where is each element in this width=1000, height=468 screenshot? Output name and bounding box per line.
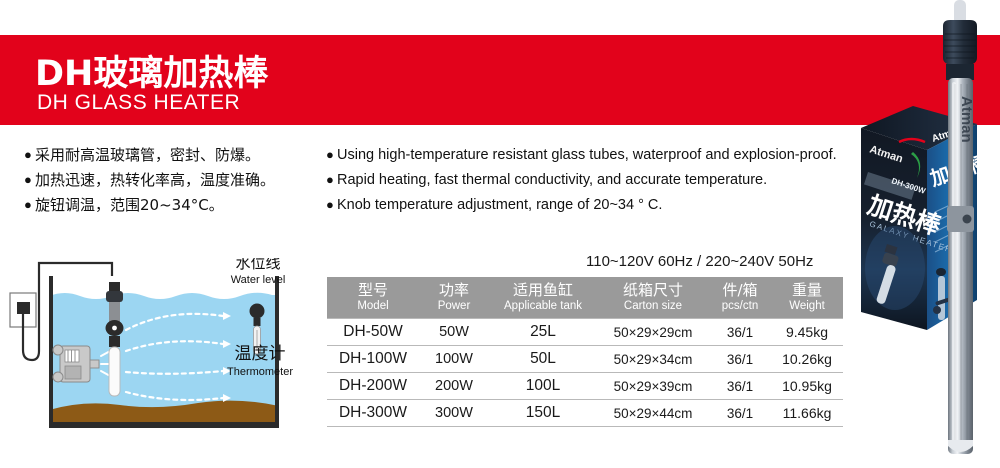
cell-weight: 9.45kg (771, 319, 843, 346)
specification-table: 型号 Model 功率 Power 适用鱼缸 Applicable tank 纸… (327, 277, 843, 427)
outlet-plug-icon (17, 302, 30, 314)
col-header-carton: 纸箱尺寸 Carton size (597, 277, 709, 319)
tank-base (49, 422, 279, 428)
list-item: ● Knob temperature adjustment, range of … (326, 194, 846, 216)
product-photo: Atman DH-300W 加热棒 GALAXY HEATER Atman 加热… (855, 0, 1000, 468)
rod-highlight (952, 82, 956, 450)
cell-tank: 150L (489, 400, 597, 427)
cell-model: DH-50W (327, 319, 419, 346)
header-banner: DH玻璃加热棒 DH GLASS HEATER (0, 35, 1000, 125)
col-header-weight: 重量 Weight (771, 277, 843, 319)
rod-neck-band (946, 64, 974, 80)
list-item: ● Rapid heating, fast thermal conductivi… (326, 169, 846, 191)
cell-pcs: 36/1 (709, 373, 771, 400)
bullet-icon: ● (24, 194, 35, 216)
feature-text: 采用耐高温玻璃管，密封、防爆。 (35, 144, 260, 166)
table-row: DH-300W 300W 150L 50×29×44cm 36/1 11.66k… (327, 400, 843, 427)
rod-collar-screw (963, 215, 972, 224)
col-header-model-en: Model (327, 299, 419, 313)
cell-pcs: 36/1 (709, 400, 771, 427)
feature-text: 加热迅速，热转化率高，温度准确。 (35, 169, 275, 191)
list-item: ● Using high-temperature resistant glass… (326, 144, 846, 166)
page-title-en: DH GLASS HEATER (37, 91, 240, 115)
cell-weight: 10.95kg (771, 373, 843, 400)
col-header-tank-en: Applicable tank (489, 299, 597, 313)
col-header-weight-cn: 重量 (771, 281, 843, 299)
col-header-model: 型号 Model (327, 277, 419, 319)
col-header-carton-cn: 纸箱尺寸 (597, 281, 709, 299)
col-header-model-cn: 型号 (327, 281, 419, 299)
cell-pcs: 36/1 (709, 346, 771, 373)
col-header-power-en: Power (419, 299, 489, 313)
cell-carton: 50×29×39cm (597, 373, 709, 400)
cell-model: DH-100W (327, 346, 419, 373)
cell-power: 100W (419, 346, 489, 373)
table-row: DH-200W 200W 100L 50×29×39cm 36/1 10.95k… (327, 373, 843, 400)
bullet-icon: ● (326, 144, 337, 166)
feature-list-cn: ● 采用耐高温玻璃管，密封、防爆。 ● 加热迅速，热转化率高，温度准确。 ● 旋… (24, 144, 324, 219)
water-level-label-cn: 水位线 (235, 258, 280, 272)
col-header-pcs: 件/箱 pcs/ctn (709, 277, 771, 319)
thermometer-label-en: Thermometer (227, 366, 293, 378)
cell-model: DH-300W (327, 400, 419, 427)
bullet-icon: ● (326, 169, 337, 191)
feature-text: Using high-temperature resistant glass t… (337, 144, 837, 166)
rod-brand-label: Atman (958, 96, 975, 143)
col-header-weight-en: Weight (771, 299, 843, 313)
bullet-icon: ● (24, 144, 35, 166)
bullet-icon: ● (24, 169, 35, 191)
cell-power: 300W (419, 400, 489, 427)
cell-model: DH-200W (327, 373, 419, 400)
cell-power: 50W (419, 319, 489, 346)
col-header-pcs-en: pcs/ctn (709, 299, 771, 313)
thermometer-label-cn: 温度计 (235, 344, 286, 364)
col-header-tank-cn: 适用鱼缸 (489, 281, 597, 299)
col-header-power-cn: 功率 (419, 281, 489, 299)
table-row: DH-50W 50W 25L 50×29×29cm 36/1 9.45kg (327, 319, 843, 346)
voltage-note: 110~120V 60Hz / 220~240V 50Hz (586, 253, 813, 270)
col-header-pcs-cn: 件/箱 (709, 281, 771, 299)
tank-wall-left (49, 276, 53, 428)
water-level-label-en: Water level (231, 274, 286, 286)
col-header-tank: 适用鱼缸 Applicable tank (489, 277, 597, 319)
table-header-row: 型号 Model 功率 Power 适用鱼缸 Applicable tank 纸… (327, 277, 843, 319)
cell-tank: 50L (489, 346, 597, 373)
cell-carton: 50×29×34cm (597, 346, 709, 373)
col-header-carton-en: Carton size (597, 299, 709, 313)
list-item: ● 加热迅速，热转化率高，温度准确。 (24, 169, 324, 191)
feature-text: Rapid heating, fast thermal conductivity… (337, 169, 767, 191)
cell-tank: 25L (489, 319, 597, 346)
list-item: ● 采用耐高温玻璃管，密封、防爆。 (24, 144, 324, 166)
cell-power: 200W (419, 373, 489, 400)
cell-tank: 100L (489, 373, 597, 400)
bullet-icon: ● (326, 194, 337, 216)
cell-weight: 11.66kg (771, 400, 843, 427)
table-row: DH-100W 100W 50L 50×29×34cm 36/1 10.26kg (327, 346, 843, 373)
page-title-cn: DH玻璃加热棒 (35, 45, 268, 96)
col-header-power: 功率 Power (419, 277, 489, 319)
aquarium-diagram: 水位线 Water level 温度计 Thermometer (8, 258, 320, 440)
feature-text: 旋钮调温，范围20~34°C。 (35, 194, 224, 216)
cell-pcs: 36/1 (709, 319, 771, 346)
cell-carton: 50×29×44cm (597, 400, 709, 427)
list-item: ● 旋钮调温，范围20~34°C。 (24, 194, 324, 216)
heater-rod-product: Atman (943, 0, 977, 454)
cell-weight: 10.26kg (771, 346, 843, 373)
rod-control-knob (943, 20, 977, 66)
cell-carton: 50×29×29cm (597, 319, 709, 346)
feature-list-en: ● Using high-temperature resistant glass… (326, 144, 846, 219)
feature-text: Knob temperature adjustment, range of 20… (337, 194, 662, 216)
